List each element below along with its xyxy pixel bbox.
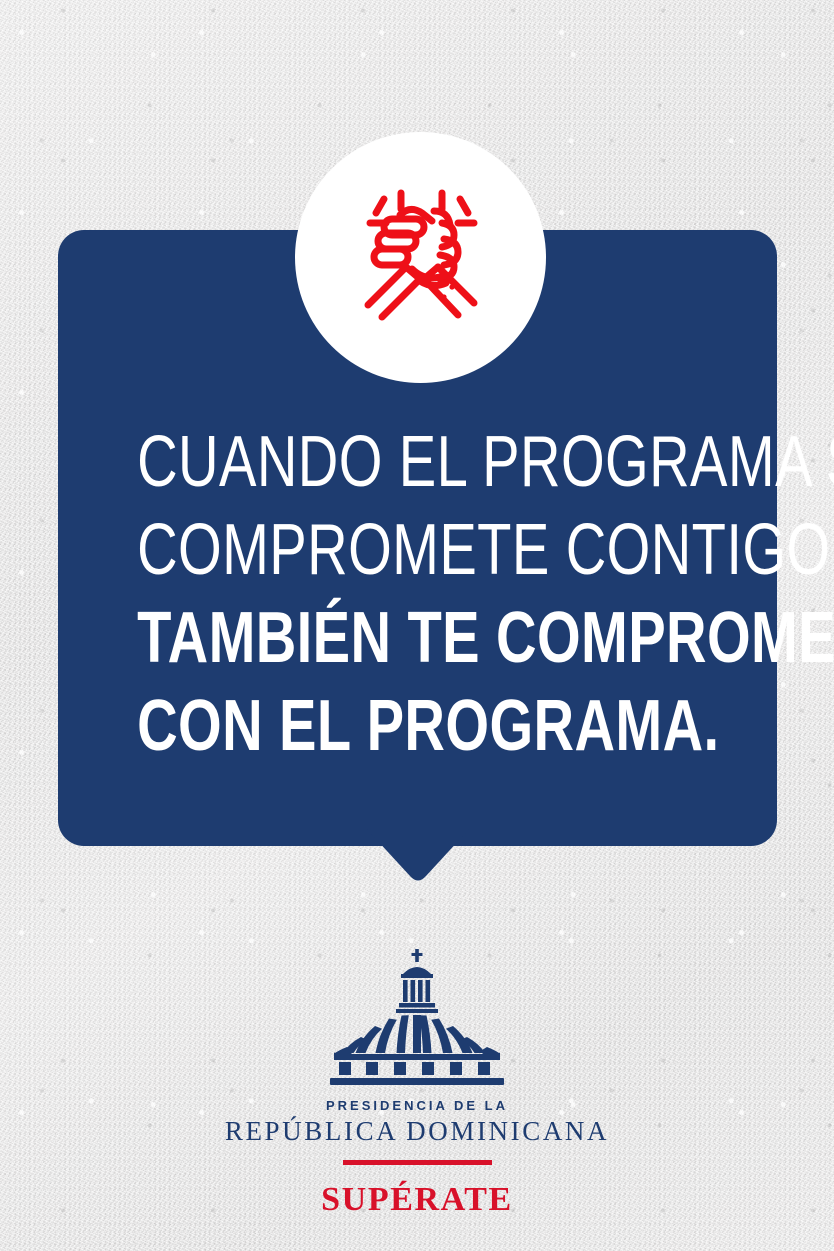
logo-line-republica-dominicana: REPÚBLICA DOMINICANA [225,1116,609,1147]
national-palace-dome-icon [303,948,531,1088]
headline-line-2: COMPROMETE CONTIGO, TÚ [137,506,698,594]
poster-canvas: CUANDO EL PROGRAMA SE COMPROMETE CONTIGO… [0,0,834,1251]
logo-line-presidencia: PRESIDENCIA DE LA [326,1098,508,1113]
clasped-hands-icon [346,183,496,333]
headline-line-2-light: COMPROMETE CONTIGO, [137,510,834,590]
icon-badge-circle [295,132,546,383]
speech-bubble-tail [364,826,472,886]
logo-divider-rule [343,1160,492,1165]
headline-line-4: CON EL PROGRAMA. [137,682,698,770]
logo-lockup: PRESIDENCIA DE LA REPÚBLICA DOMINICANA S… [0,948,834,1219]
logo-brand-superate: SUPÉRATE [321,1181,513,1219]
headline-text: CUANDO EL PROGRAMA SE COMPROMETE CONTIGO… [137,418,698,770]
headline-line-3: TAMBIÉN TE COMPROMETES [137,594,698,682]
headline-line-1: CUANDO EL PROGRAMA SE [137,418,698,506]
